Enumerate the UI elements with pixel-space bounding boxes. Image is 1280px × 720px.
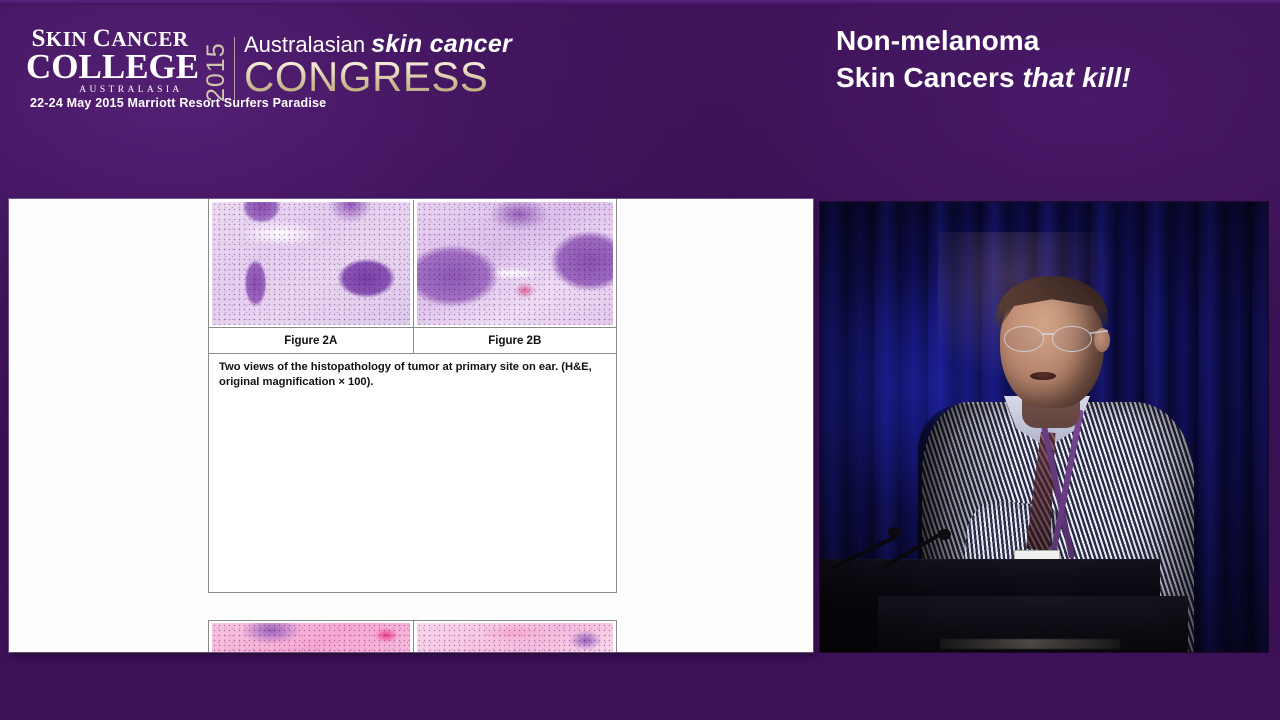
figure-2a-cell — [209, 200, 413, 327]
skin-cancer-college-logo: SKIN CANCER COLLEGE AUSTRALASIA — [26, 20, 194, 92]
figure-2b-label: Figure 2B — [413, 328, 617, 353]
figure-2-table: Figure 2A Figure 2B Two views of the his… — [208, 199, 617, 593]
figure-2b-cell — [413, 200, 617, 327]
histology-image-2b — [417, 202, 614, 325]
talk-title-line-1: Non-melanoma — [836, 22, 1266, 59]
conference-date-venue: 22-24 May 2015 Marriott Resort Surfers P… — [30, 96, 326, 110]
figure-2-caption: Two views of the histopathology of tumor… — [209, 354, 616, 395]
histology-speckle — [417, 202, 614, 325]
talk-title: Non-melanoma Skin Cancers that kill! — [836, 22, 1266, 96]
logo-line-college: COLLEGE — [26, 50, 194, 83]
histology-speckle — [212, 202, 410, 325]
congress-wordmark: Australasian skin cancer CONGRESS — [244, 32, 494, 99]
figure-3-table: Figure 3a Figure 3b Two views of the his… — [208, 620, 617, 652]
slide-content-panel[interactable]: Figure 2A Figure 2B Two views of the his… — [9, 199, 813, 652]
histology-image-3a — [212, 623, 410, 652]
talk-title-emphasis: that kill! — [1023, 62, 1131, 93]
figure-2-label-row: Figure 2A Figure 2B — [209, 328, 616, 354]
histology-image-3b — [417, 623, 614, 652]
talk-title-line-2: Skin Cancers that kill! — [836, 59, 1266, 96]
top-accent-strip — [0, 0, 1280, 5]
figure-3a-cell — [209, 621, 413, 652]
histology-speckle — [417, 623, 614, 652]
speaker-video-panel[interactable] — [820, 202, 1268, 652]
talk-title-main: Skin Cancers — [836, 62, 1023, 93]
histology-image-2a — [212, 202, 410, 325]
presentation-screenshot: SKIN CANCER COLLEGE AUSTRALASIA 2015 Aus… — [0, 0, 1280, 720]
figure-2-image-row — [209, 199, 616, 328]
figure-3b-cell — [413, 621, 617, 652]
histology-speckle — [212, 623, 410, 652]
figure-2a-label: Figure 2A — [209, 328, 413, 353]
congress-text-congress: CONGRESS — [244, 55, 494, 99]
figure-3-image-row — [209, 621, 616, 652]
video-vignette — [820, 202, 1268, 652]
